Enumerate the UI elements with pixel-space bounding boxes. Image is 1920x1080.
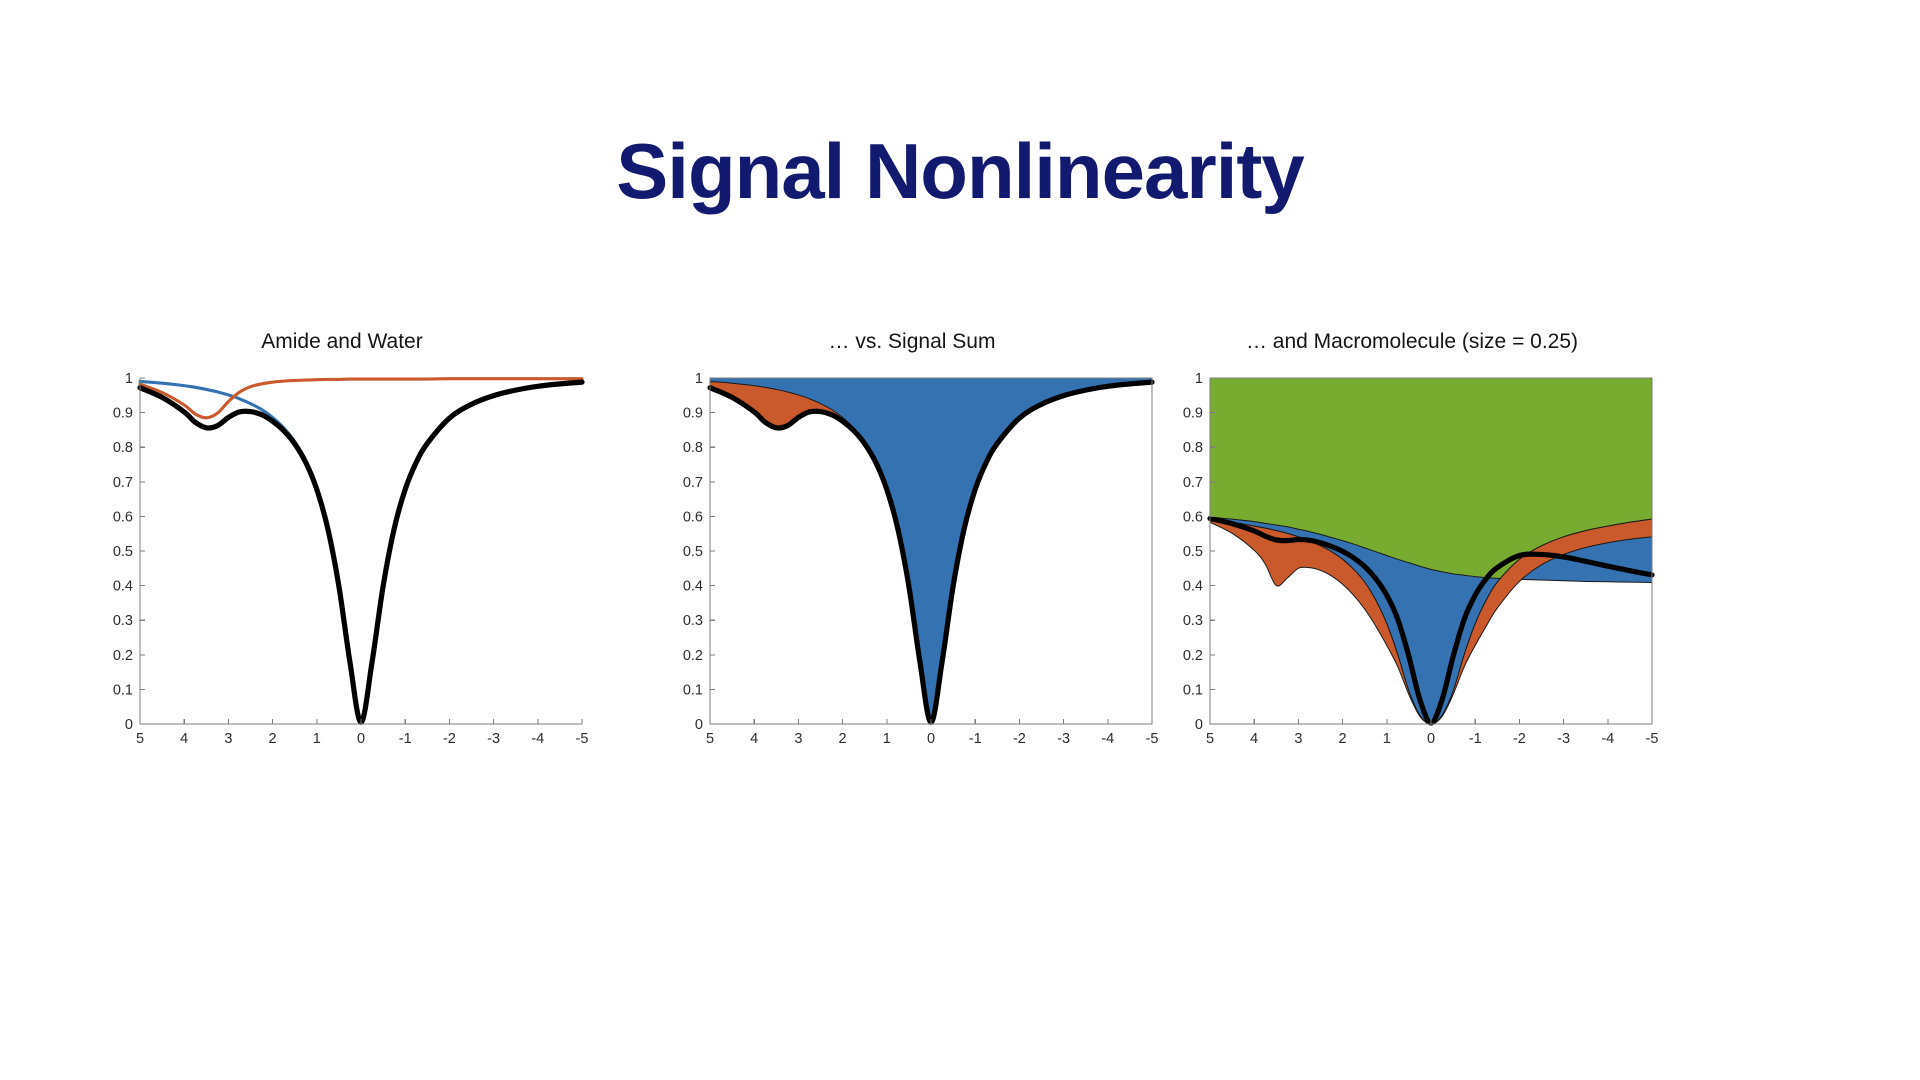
- x-tick-label: 3: [224, 731, 232, 747]
- chart-panel-macromolecule: … and Macromolecule (size = 0.25) 00.10.…: [1166, 330, 1658, 770]
- y-tick-label: 0.4: [1183, 579, 1203, 595]
- y-tick-label: 0: [695, 717, 703, 733]
- y-tick-label: 1: [1195, 371, 1203, 387]
- y-tick-label: 0.5: [113, 544, 133, 560]
- y-tick-label: 0.9: [1183, 406, 1203, 422]
- chart-panel-signal-sum: … vs. Signal Sum 00.10.20.30.40.50.60.70…: [666, 330, 1158, 770]
- x-tick-label: -5: [1146, 731, 1158, 747]
- figure-1: 00.10.20.30.40.50.60.70.80.91543210-1-2-…: [96, 368, 588, 758]
- x-tick-label: 3: [1294, 731, 1302, 747]
- x-tick-label: -4: [531, 731, 544, 747]
- x-tick-label: 0: [927, 731, 935, 747]
- y-tick-label: 0.7: [113, 475, 133, 491]
- y-tick-label: 0.3: [1183, 613, 1203, 629]
- y-tick-label: 0: [125, 717, 133, 733]
- x-tick-label: 2: [1339, 731, 1347, 747]
- y-tick-label: 0.6: [113, 509, 133, 525]
- x-tick-label: -5: [1646, 731, 1658, 747]
- y-tick-label: 0: [1195, 717, 1203, 733]
- y-tick-label: 0.5: [1183, 544, 1203, 560]
- x-tick-label: 3: [794, 731, 802, 747]
- y-tick-label: 0.7: [1183, 475, 1203, 491]
- x-tick-label: 5: [1206, 731, 1214, 747]
- figure-3: 00.10.20.30.40.50.60.70.80.91543210-1-2-…: [1166, 368, 1658, 758]
- x-tick-label: -1: [399, 731, 412, 747]
- figure-2: 00.10.20.30.40.50.60.70.80.91543210-1-2-…: [666, 368, 1158, 758]
- x-tick-label: 1: [883, 731, 891, 747]
- x-tick-label: -3: [487, 731, 500, 747]
- y-tick-label: 1: [695, 371, 703, 387]
- y-tick-label: 0.8: [113, 440, 133, 456]
- y-tick-label: 0.9: [683, 406, 703, 422]
- x-tick-label: 5: [136, 731, 144, 747]
- y-tick-label: 0.3: [683, 613, 703, 629]
- y-tick-label: 0.1: [113, 682, 133, 698]
- panel-title-2: … vs. Signal Sum: [666, 330, 1158, 354]
- x-tick-label: -5: [576, 731, 588, 747]
- x-tick-label: 4: [1250, 731, 1258, 747]
- slide-canvas: Signal Nonlinearity Amide and Water 00.1…: [0, 0, 1920, 1080]
- x-tick-label: -2: [1513, 731, 1526, 747]
- x-tick-label: -3: [1057, 731, 1070, 747]
- x-tick-label: 1: [1383, 731, 1391, 747]
- plot-area-macromolecule: 00.10.20.30.40.50.60.70.80.91543210-1-2-…: [1166, 368, 1658, 758]
- y-tick-label: 0.2: [683, 648, 703, 664]
- y-tick-label: 0.8: [683, 440, 703, 456]
- x-tick-label: -4: [1101, 731, 1114, 747]
- y-tick-label: 0.9: [113, 406, 133, 422]
- y-tick-label: 0.4: [683, 579, 703, 595]
- x-tick-label: 0: [1427, 731, 1435, 747]
- chart-panel-amide-and-water: Amide and Water 00.10.20.30.40.50.60.70.…: [96, 330, 588, 770]
- x-tick-label: 2: [839, 731, 847, 747]
- plot-area-signal-sum: 00.10.20.30.40.50.60.70.80.91543210-1-2-…: [666, 368, 1158, 758]
- x-tick-label: -2: [1013, 731, 1026, 747]
- y-tick-label: 1: [125, 371, 133, 387]
- y-tick-label: 0.8: [1183, 440, 1203, 456]
- y-tick-label: 0.5: [683, 544, 703, 560]
- panel-title-1: Amide and Water: [96, 330, 588, 354]
- y-tick-label: 0.6: [683, 509, 703, 525]
- y-tick-label: 0.3: [113, 613, 133, 629]
- plot-area-amide-and-water: 00.10.20.30.40.50.60.70.80.91543210-1-2-…: [96, 368, 588, 758]
- y-tick-label: 0.7: [683, 475, 703, 491]
- x-tick-label: 4: [180, 731, 188, 747]
- x-tick-label: -2: [443, 731, 456, 747]
- page-title: Signal Nonlinearity: [0, 128, 1920, 214]
- y-tick-label: 0.2: [1183, 648, 1203, 664]
- y-tick-label: 0.1: [1183, 682, 1203, 698]
- x-tick-label: 1: [313, 731, 321, 747]
- x-tick-label: -3: [1557, 731, 1570, 747]
- x-tick-label: -1: [969, 731, 982, 747]
- x-tick-label: -1: [1469, 731, 1482, 747]
- x-tick-label: 4: [750, 731, 758, 747]
- y-tick-label: 0.4: [113, 579, 133, 595]
- panel-title-3: … and Macromolecule (size = 0.25): [1166, 330, 1658, 354]
- x-tick-label: 2: [269, 731, 277, 747]
- y-tick-label: 0.1: [683, 682, 703, 698]
- x-tick-label: 5: [706, 731, 714, 747]
- x-tick-label: 0: [357, 731, 365, 747]
- x-tick-label: -4: [1601, 731, 1614, 747]
- y-tick-label: 0.2: [113, 648, 133, 664]
- y-tick-label: 0.6: [1183, 509, 1203, 525]
